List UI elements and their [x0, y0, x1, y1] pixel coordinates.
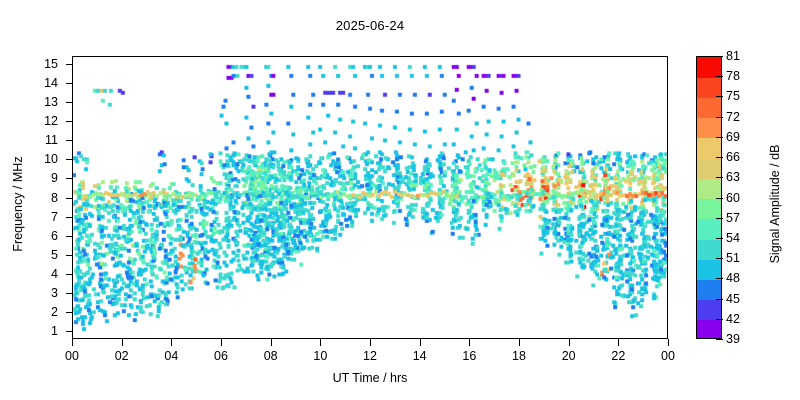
colorbar-band — [697, 97, 721, 118]
x-tick-label: 02 — [102, 349, 142, 363]
colorbar-band — [697, 178, 721, 199]
colorbar-tick — [716, 137, 723, 138]
x-tick — [320, 339, 321, 346]
x-tick — [122, 339, 123, 346]
x-tick — [72, 339, 73, 346]
colorbar-band — [697, 300, 721, 321]
colorbar-tick-label: 60 — [726, 191, 754, 205]
y-tick — [66, 331, 73, 332]
colorbar-band — [697, 259, 721, 280]
colorbar-band — [697, 199, 721, 220]
colorbar-tick-label: 57 — [726, 211, 754, 225]
x-axis-label: UT Time / hrs — [72, 371, 668, 385]
colorbar-tick — [716, 339, 723, 340]
y-tick — [66, 293, 73, 294]
colorbar-tick-label: 66 — [726, 150, 754, 164]
colorbar-tick — [716, 319, 723, 320]
colorbar-tick — [716, 218, 723, 219]
colorbar-tick — [716, 238, 723, 239]
colorbar-band — [697, 239, 721, 260]
x-tick-label: 10 — [300, 349, 340, 363]
x-tick-label: 14 — [400, 349, 440, 363]
x-tick — [569, 339, 570, 346]
y-tick — [66, 121, 73, 122]
colorbar-label: Signal Amplitude / dB — [768, 119, 782, 289]
x-tick — [271, 339, 272, 346]
colorbar-band — [697, 219, 721, 240]
x-tick-label: 08 — [251, 349, 291, 363]
y-tick-label: 3 — [14, 286, 58, 300]
x-tick-label: 04 — [151, 349, 191, 363]
x-tick-label: 06 — [201, 349, 241, 363]
scatter-plot-canvas — [73, 57, 667, 338]
colorbar-tick-label: 42 — [726, 312, 754, 326]
colorbar-tick — [716, 117, 723, 118]
chart-title: 2025-06-24 — [0, 18, 740, 33]
y-tick — [66, 140, 73, 141]
colorbar-band — [697, 158, 721, 179]
x-tick-label: 12 — [350, 349, 390, 363]
colorbar-tick-label: 51 — [726, 251, 754, 265]
x-tick-label: 22 — [598, 349, 638, 363]
x-tick-label: 18 — [499, 349, 539, 363]
x-tick-label: 00 — [52, 349, 92, 363]
y-tick-label: 1 — [14, 324, 58, 338]
y-tick — [66, 255, 73, 256]
x-tick — [668, 339, 669, 346]
plot-area — [72, 56, 668, 339]
colorbar-tick-label: 63 — [726, 170, 754, 184]
colorbar-band — [697, 77, 721, 98]
ionogram-figure: 2025-06-24 123456789101112131415 0002040… — [0, 0, 800, 400]
colorbar-tick — [716, 96, 723, 97]
colorbar-tick — [716, 76, 723, 77]
colorbar-tick — [716, 177, 723, 178]
colorbar-tick-label: 69 — [726, 130, 754, 144]
x-tick-label: 00 — [648, 349, 688, 363]
colorbar-tick-label: 78 — [726, 69, 754, 83]
colorbar-tick — [716, 157, 723, 158]
y-tick — [66, 102, 73, 103]
x-tick — [519, 339, 520, 346]
y-tick — [66, 312, 73, 313]
x-tick-label: 16 — [449, 349, 489, 363]
y-tick — [66, 83, 73, 84]
colorbar-band — [697, 320, 721, 339]
x-tick-label: 20 — [549, 349, 589, 363]
colorbar-tick — [716, 198, 723, 199]
colorbar-tick-label: 54 — [726, 231, 754, 245]
y-tick — [66, 198, 73, 199]
colorbar-tick — [716, 56, 723, 57]
colorbar-tick — [716, 278, 723, 279]
colorbar-tick-label: 39 — [726, 332, 754, 346]
x-tick — [420, 339, 421, 346]
x-tick — [221, 339, 222, 346]
colorbar-tick-label: 48 — [726, 271, 754, 285]
y-axis-label: Frequency / MHz — [11, 124, 25, 284]
y-tick-label: 2 — [14, 305, 58, 319]
y-tick — [66, 236, 73, 237]
y-tick-label: 15 — [14, 57, 58, 71]
y-tick-label: 14 — [14, 76, 58, 90]
y-tick — [66, 274, 73, 275]
colorbar-band — [697, 57, 721, 78]
y-tick — [66, 178, 73, 179]
y-tick — [66, 217, 73, 218]
x-tick — [469, 339, 470, 346]
colorbar-band — [697, 279, 721, 300]
colorbar-tick — [716, 299, 723, 300]
colorbar-tick-label: 75 — [726, 89, 754, 103]
y-tick — [66, 159, 73, 160]
colorbar-tick-label: 81 — [726, 49, 754, 63]
y-tick — [66, 64, 73, 65]
colorbar-tick — [716, 258, 723, 259]
colorbar-band — [697, 138, 721, 159]
x-tick — [171, 339, 172, 346]
x-tick — [618, 339, 619, 346]
colorbar-band — [697, 118, 721, 139]
x-tick — [370, 339, 371, 346]
y-tick-label: 13 — [14, 95, 58, 109]
colorbar-tick-label: 72 — [726, 110, 754, 124]
colorbar-tick-label: 45 — [726, 292, 754, 306]
